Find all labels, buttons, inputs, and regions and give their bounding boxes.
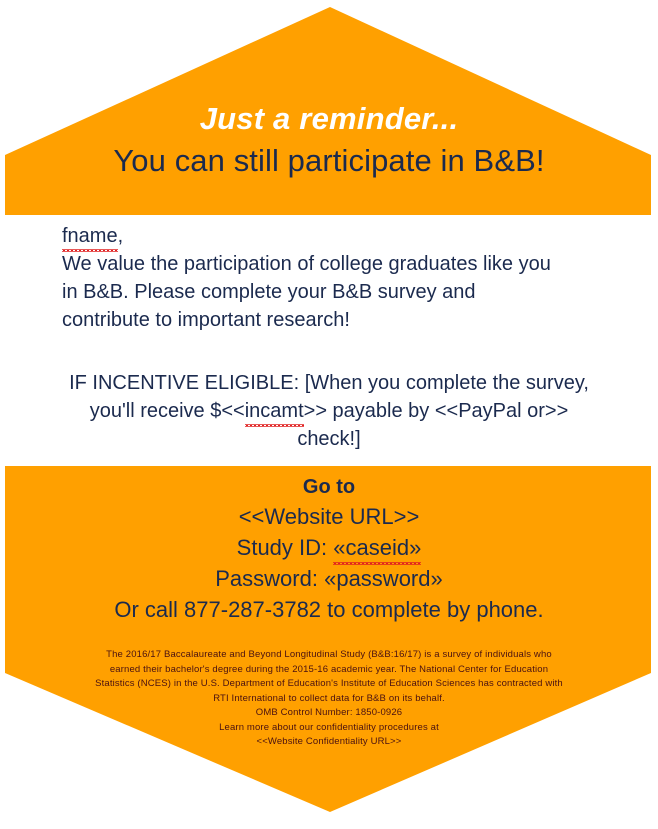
password-line: Password: «password» (0, 563, 658, 594)
banner-text-block: Just a reminder... You can still partici… (0, 100, 658, 181)
password-value: «password» (324, 566, 443, 591)
fine-print-confidentiality-url[interactable]: <<Website Confidentiality URL>> (70, 735, 588, 750)
fine-print-line: The 2016/17 Baccalaureate and Beyond Lon… (70, 648, 588, 663)
goto-label: Go to (0, 474, 658, 501)
headline-primary: Just a reminder... (0, 100, 658, 138)
body-paragraph-line: contribute to important research! (62, 306, 602, 334)
study-id-value: «caseid» (333, 532, 421, 563)
body-paragraph-line: We value the participation of college gr… (62, 250, 602, 278)
body-paragraph: We value the participation of college gr… (0, 250, 642, 334)
password-label: Password: (215, 566, 318, 591)
study-id-line: Study ID: «caseid» (0, 532, 658, 563)
call-to-action-block: Go to <<Website URL>> Study ID: «caseid»… (0, 474, 658, 625)
website-url-line[interactable]: <<Website URL>> (0, 501, 658, 532)
greeting-line: fname, (62, 222, 618, 250)
reminder-flyer: Just a reminder... You can still partici… (0, 0, 658, 829)
study-id-label: Study ID: (237, 535, 327, 560)
incentive-line: IF INCENTIVE ELIGIBLE: [When you complet… (48, 369, 610, 397)
fine-print-omb-line: OMB Control Number: 1850-0926 (70, 706, 588, 721)
phone-line: Or call 877-287-3782 to complete by phon… (0, 594, 658, 625)
fine-print-block: The 2016/17 Baccalaureate and Beyond Lon… (0, 648, 658, 750)
fine-print-line: earned their bachelor's degree during th… (70, 663, 588, 678)
greeting-merge-field: fname (62, 222, 118, 250)
body-paragraph-line: in B&B. Please complete your B&B survey … (62, 278, 602, 306)
headline-secondary: You can still participate in B&B! (0, 141, 658, 181)
body-text-block: fname, We value the participation of col… (0, 222, 658, 453)
fine-print-line: Statistics (NCES) in the U.S. Department… (70, 677, 588, 692)
incentive-amount-merge-field: incamt (245, 397, 304, 425)
incentive-line: check!] (48, 425, 610, 453)
fine-print-line: Learn more about our confidentiality pro… (70, 721, 588, 736)
fine-print-line: RTI International to collect data for B&… (70, 692, 588, 707)
incentive-line: you'll receive $<<incamt>> payable by <<… (48, 397, 610, 425)
incentive-paragraph: IF INCENTIVE ELIGIBLE: [When you complet… (0, 369, 658, 453)
greeting-wrapper: fname, (0, 222, 658, 250)
